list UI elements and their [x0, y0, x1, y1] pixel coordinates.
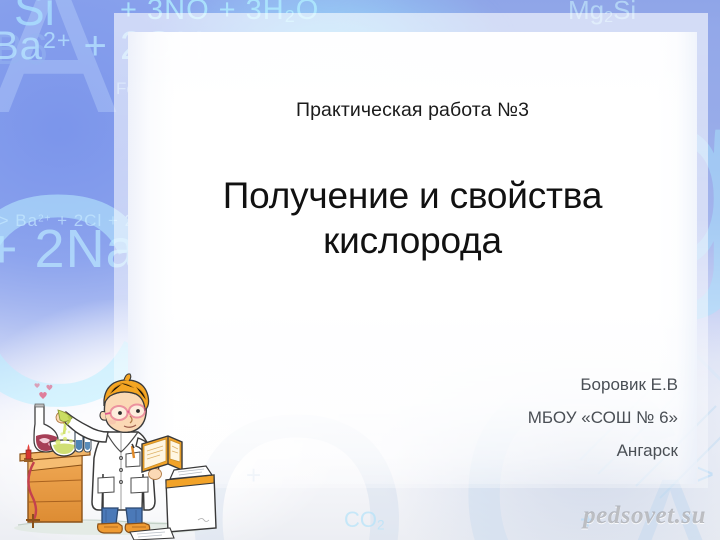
slide-text-layer: Практическая работа №3 Получение и свойс…: [0, 0, 720, 540]
slide-credits: Боровик Е.В МБОУ «СОШ № 6» Ангарск: [258, 368, 678, 467]
slide-canvas: A C g O C A Si B6 Ba2+ + 2OH + 3NO + 3H2…: [0, 0, 720, 540]
slide-subtitle: Практическая работа №3: [128, 99, 697, 122]
credits-author: Боровик Е.В: [258, 368, 678, 401]
credits-city: Ангарск: [258, 434, 678, 467]
credits-school: МБОУ «СОШ № 6»: [258, 401, 678, 434]
slide-title-line-1: Получение и свойства: [128, 173, 697, 218]
slide-title-line-2: кислорода: [128, 218, 697, 263]
watermark-pedsovet: pedsovet.su: [583, 502, 706, 530]
slide-title: Получение и свойства кислорода: [128, 173, 697, 263]
